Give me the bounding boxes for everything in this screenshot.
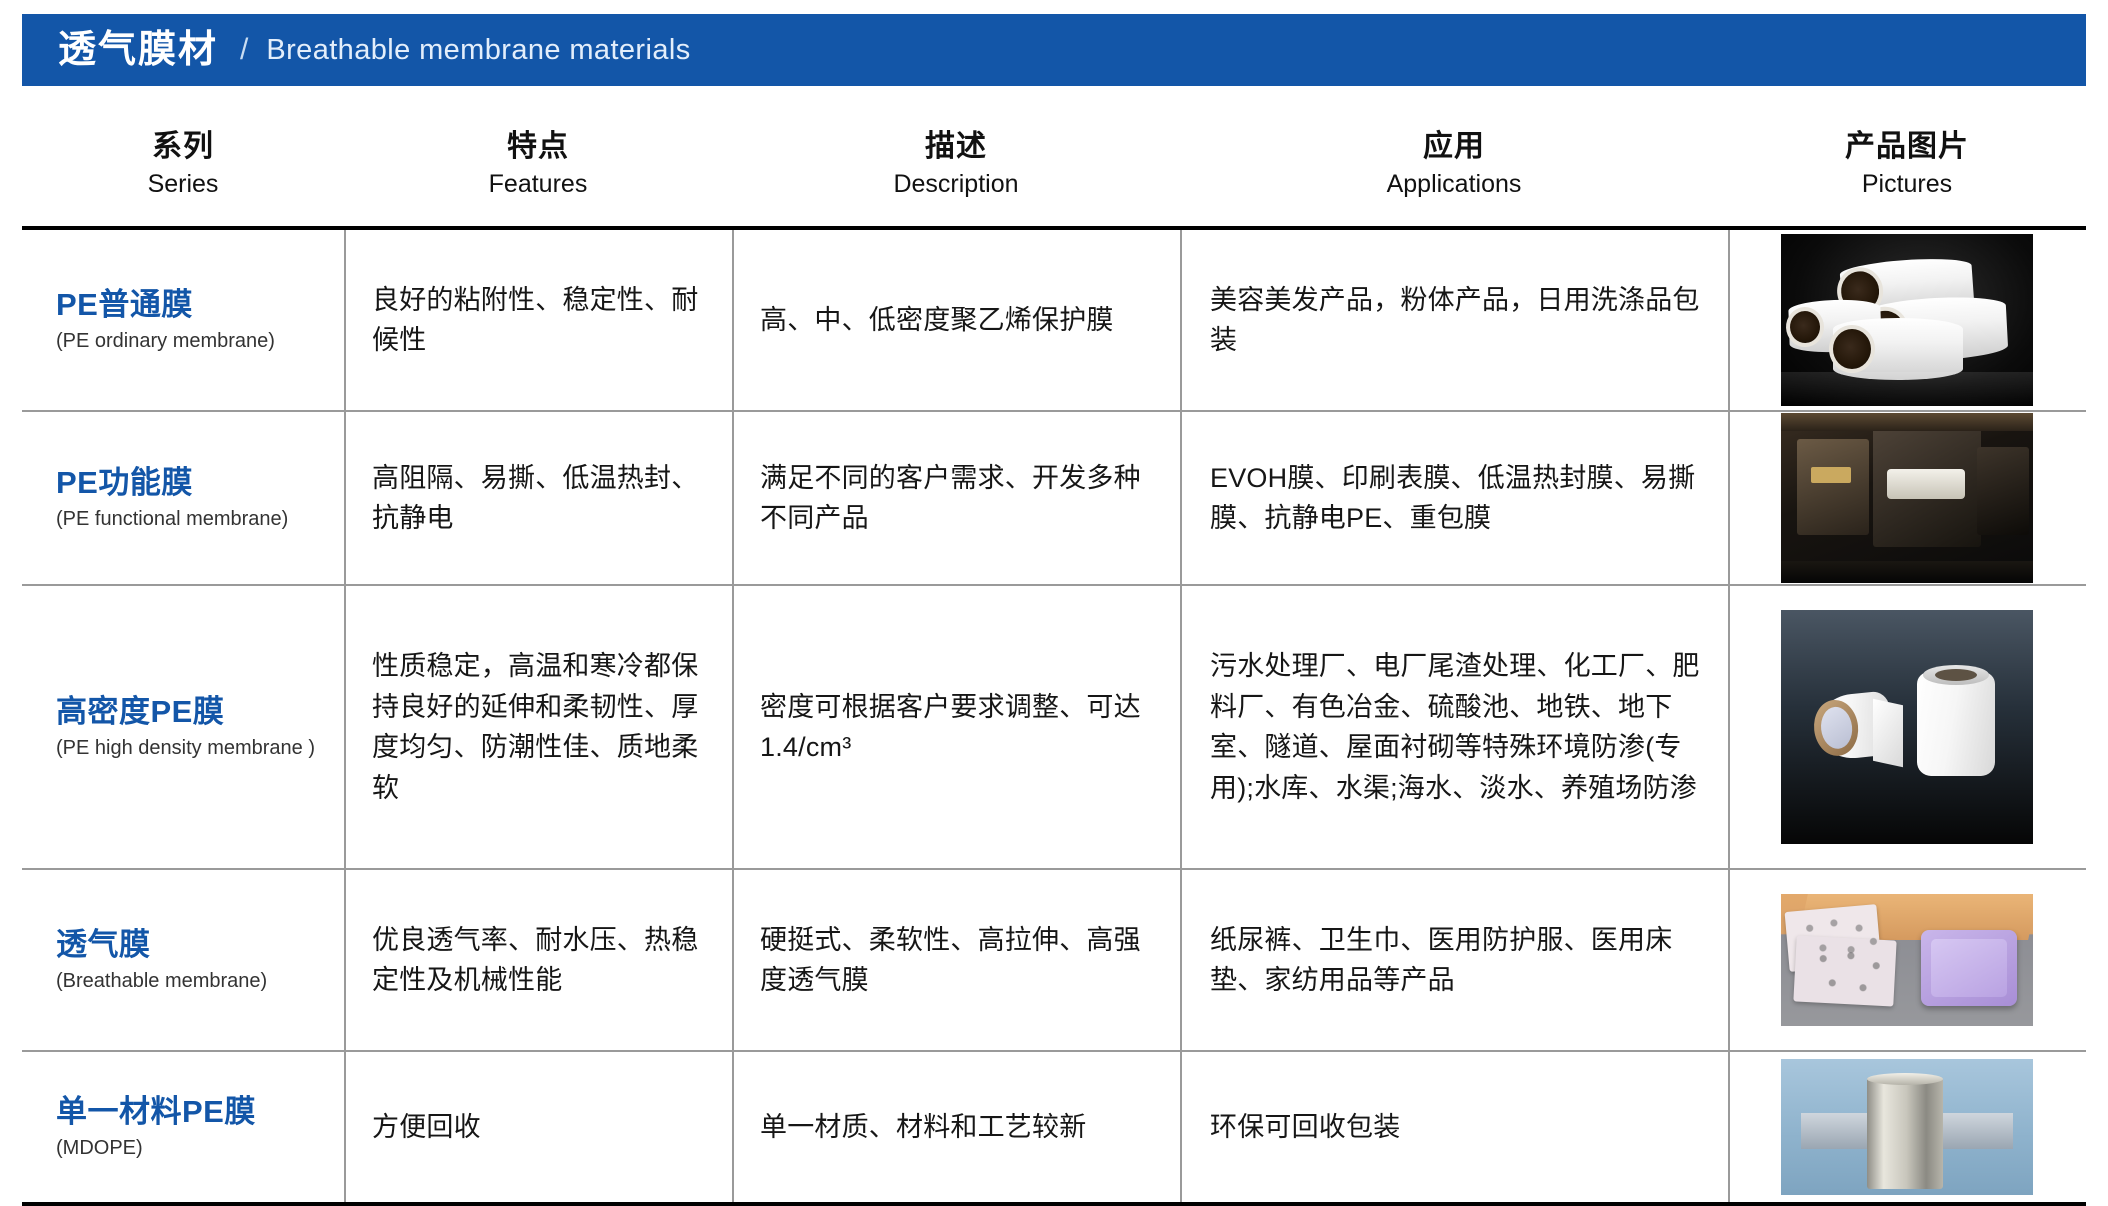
white-film-rolls-photo	[1781, 234, 2033, 406]
column-header-applications-en: Applications	[1387, 169, 1522, 200]
series-name-en: (PE ordinary membrane)	[56, 328, 275, 354]
film-roll-front	[1833, 318, 1963, 380]
metallic-film-roll-photo	[1781, 1059, 2033, 1195]
table-row: PE功能膜 (PE functional membrane) 高阻隔、易撕、低温…	[22, 412, 2086, 584]
column-header-series-en: Series	[148, 169, 219, 200]
cell-series: PE普通膜 (PE ordinary membrane)	[22, 230, 344, 410]
column-header-description-cn: 描述	[925, 130, 987, 165]
tape-roll-core	[1935, 669, 1977, 681]
series-name-cn: 透气膜	[56, 926, 151, 963]
column-header-features-cn: 特点	[507, 130, 569, 165]
cell-applications: 环保可回收包装	[1180, 1052, 1728, 1202]
section-title-cn: 透气膜材	[58, 31, 218, 69]
cell-features: 方便回收	[344, 1052, 732, 1202]
tape-roll-upright	[1917, 672, 1995, 776]
column-header-pictures-en: Pictures	[1862, 169, 1952, 200]
cell-features: 良好的粘附性、稳定性、耐候性	[344, 230, 732, 410]
series-name-cn: PE普通膜	[56, 286, 193, 323]
cell-description: 硬挺式、柔软性、高拉伸、高强度透气膜	[732, 870, 1180, 1050]
roll-core	[1785, 306, 1824, 347]
cell-description: 密度可根据客户要求调整、可达1.4/cm³	[732, 586, 1180, 868]
column-header-applications: 应用 Applications	[1180, 104, 1728, 226]
cell-series: PE功能膜 (PE functional membrane)	[22, 412, 344, 584]
column-header-pictures-cn: 产品图片	[1845, 130, 1969, 165]
cell-picture	[1728, 870, 2086, 1050]
sheet-pattern-front	[1806, 944, 1895, 1002]
machine-white-panel	[1887, 469, 1965, 499]
cell-picture	[1728, 412, 2086, 584]
section-title-en: Breathable membrane materials	[266, 36, 690, 65]
column-header-applications-cn: 应用	[1423, 130, 1485, 165]
machine-body-left	[1797, 439, 1869, 535]
cell-series: 透气膜 (Breathable membrane)	[22, 870, 344, 1050]
cell-features: 高阻隔、易撕、低温热封、抗静电	[344, 412, 732, 584]
cell-description: 单一材质、材料和工艺较新	[732, 1052, 1180, 1202]
tape-flap	[1873, 699, 1903, 767]
table-row: 单一材料PE膜 (MDOPE) 方便回收 单一材质、材料和工艺较新 环保可回收包…	[22, 1052, 2086, 1202]
cell-features: 优良透气率、耐水压、热稳定性及机械性能	[344, 870, 732, 1050]
cell-applications: EVOH膜、印刷表膜、低温热封膜、易撕膜、抗静电PE、重包膜	[1180, 412, 1728, 584]
cell-features: 性质稳定，高温和寒冷都保持良好的延伸和柔韧性、厚度均匀、防潮性佳、质地柔软	[344, 586, 732, 868]
column-header-features-en: Features	[489, 169, 588, 200]
machine-body-right	[1977, 447, 2029, 535]
printing-machine-photo	[1781, 413, 2033, 583]
metallic-roll	[1867, 1077, 1943, 1189]
column-header-series-cn: 系列	[152, 130, 214, 165]
cell-series: 单一材料PE膜 (MDOPE)	[22, 1052, 344, 1202]
series-name-cn: 单一材料PE膜	[56, 1093, 256, 1130]
cell-description: 高、中、低密度聚乙烯保护膜	[732, 230, 1180, 410]
fabric-sheets-photo	[1781, 894, 2033, 1026]
series-name-cn: 高密度PE膜	[56, 693, 224, 730]
title-separator: /	[240, 35, 248, 65]
column-header-description: 描述 Description	[732, 104, 1180, 226]
cell-picture	[1728, 586, 2086, 868]
series-name-en: (PE functional membrane)	[56, 506, 288, 532]
cell-picture	[1728, 230, 2086, 410]
table-row: 透气膜 (Breathable membrane) 优良透气率、耐水压、热稳定性…	[22, 870, 2086, 1050]
series-name-cn: PE功能膜	[56, 464, 193, 501]
machine-amber-light	[1811, 467, 1851, 483]
machine-floor	[1781, 561, 2033, 583]
series-name-en: (Breathable membrane)	[56, 968, 267, 994]
column-header-description-en: Description	[893, 169, 1018, 200]
series-name-en: (MDOPE)	[56, 1135, 143, 1161]
table-row: 高密度PE膜 (PE high density membrane ) 性质稳定，…	[22, 586, 2086, 868]
metallic-roll-top	[1867, 1073, 1943, 1085]
products-table: 系列 Series 特点 Features 描述 Description 应用 …	[22, 104, 2086, 1206]
product-table-page: 透气膜材 / Breathable membrane materials 系列 …	[0, 0, 2108, 1206]
cell-applications: 纸尿裤、卫生巾、医用防护服、医用床垫、家纺用品等产品	[1180, 870, 1728, 1050]
table-header-row: 系列 Series 特点 Features 描述 Description 应用 …	[22, 104, 2086, 226]
reflection	[1781, 372, 2033, 406]
column-header-pictures: 产品图片 Pictures	[1728, 104, 2086, 226]
section-title-bar: 透气膜材 / Breathable membrane materials	[22, 14, 2086, 86]
cell-description: 满足不同的客户需求、开发多种不同产品	[732, 412, 1180, 584]
column-header-series: 系列 Series	[22, 104, 344, 226]
table-row: PE普通膜 (PE ordinary membrane) 良好的粘附性、稳定性、…	[22, 230, 2086, 410]
roll-core	[1829, 325, 1875, 373]
cell-applications: 美容美发产品，粉体产品，日用洗涤品包装	[1180, 230, 1728, 410]
cell-picture	[1728, 1052, 2086, 1202]
column-header-features: 特点 Features	[344, 104, 732, 226]
cell-series: 高密度PE膜 (PE high density membrane )	[22, 586, 344, 868]
cell-applications: 污水处理厂、电厂尾渣处理、化工厂、肥料厂、有色冶金、硫酸池、地铁、地下室、隧道、…	[1180, 586, 1728, 868]
purple-pad-inner	[1931, 939, 2007, 997]
table-bottom-rule	[22, 1202, 2086, 1206]
series-name-en: (PE high density membrane )	[56, 735, 315, 761]
white-tape-rolls-photo	[1781, 610, 2033, 844]
machine-ceiling	[1781, 413, 2033, 431]
